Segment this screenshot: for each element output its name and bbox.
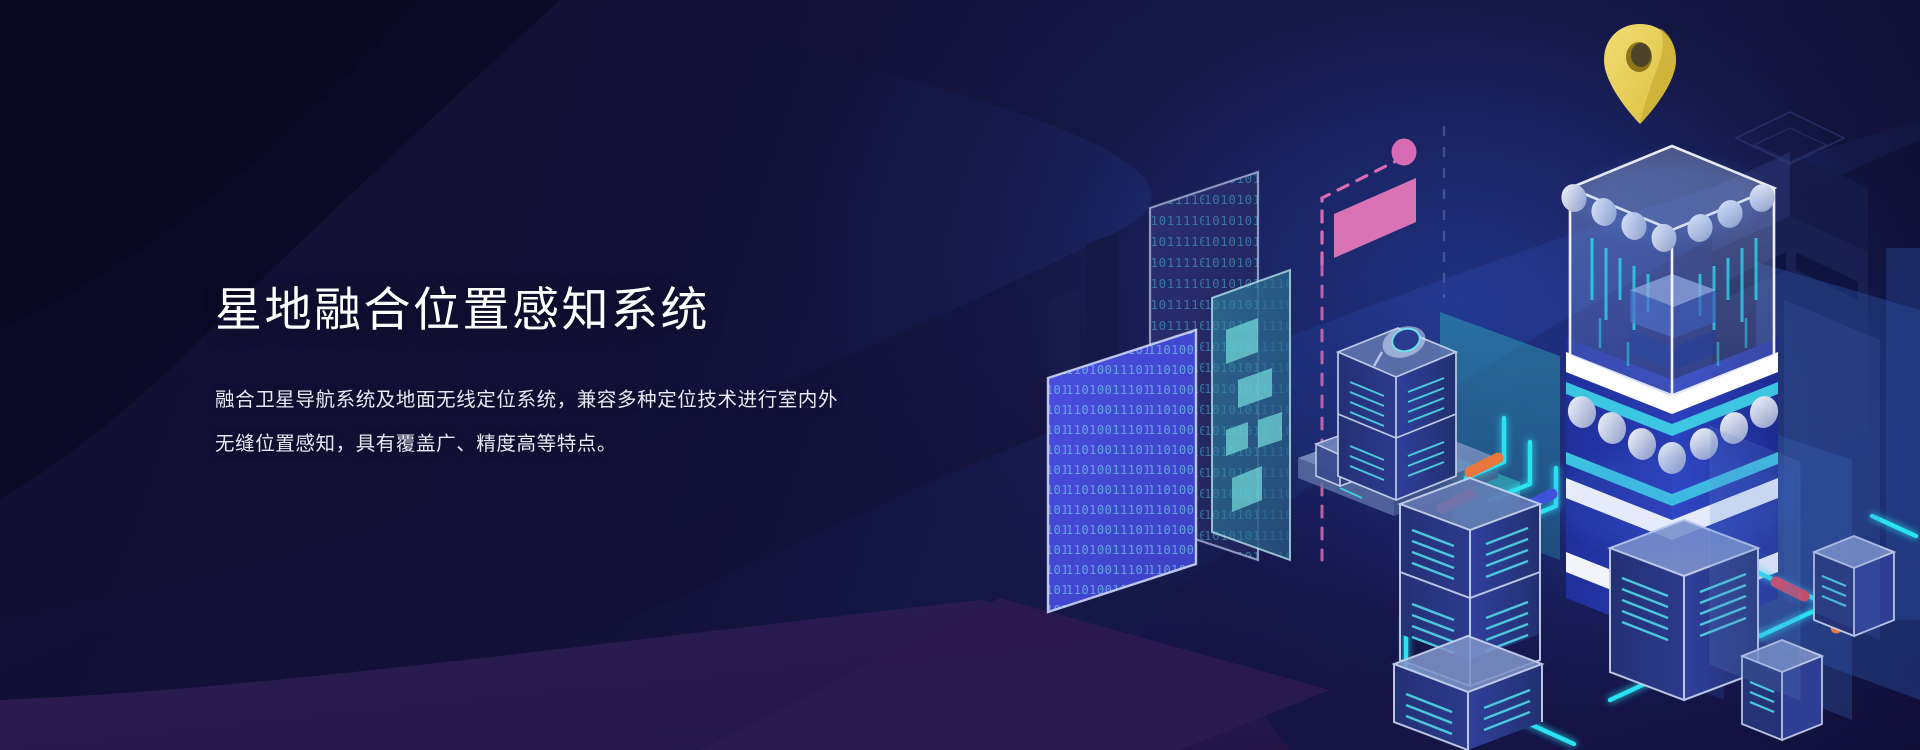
pink-node-dot bbox=[1392, 139, 1417, 166]
hero-banner: 星地融合位置感知系统 融合卫星导航系统及地面无线定位系统，兼容多种定位技术进行室… bbox=[0, 0, 1920, 750]
page-title: 星地融合位置感知系统 bbox=[215, 282, 895, 337]
qr-panel-middle bbox=[1212, 270, 1290, 560]
description-line-1: 融合卫星导航系统及地面无线定位系统，兼容多种定位技术进行室内外 bbox=[215, 379, 895, 422]
pink-panel bbox=[1334, 178, 1416, 258]
server-rack-bottom bbox=[1394, 636, 1542, 750]
banner-copy: 星地融合位置感知系统 融合卫星导航系统及地面无线定位系统，兼容多种定位技术进行室… bbox=[215, 282, 895, 466]
banner-description: 融合卫星导航系统及地面无线定位系统，兼容多种定位技术进行室内外 无缝位置感知，具… bbox=[215, 379, 895, 466]
binary-panel-front bbox=[1048, 330, 1196, 612]
satellite-dish-tower bbox=[1338, 321, 1456, 500]
description-line-2: 无缝位置感知，具有覆盖广、精度高等特点。 bbox=[215, 423, 895, 466]
location-pin-icon bbox=[1604, 24, 1676, 124]
